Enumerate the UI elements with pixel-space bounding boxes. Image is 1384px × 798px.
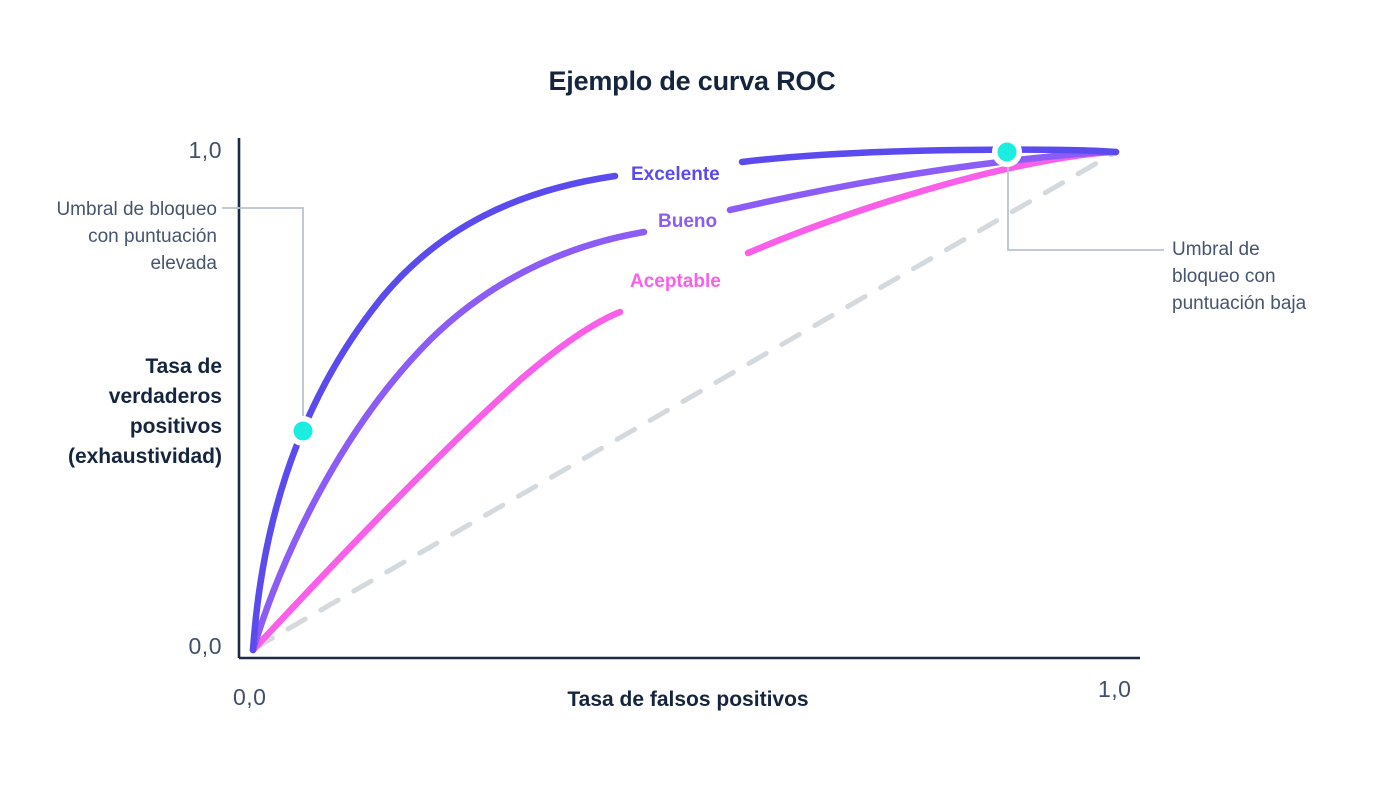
x-tick-left: 0,0 — [233, 684, 283, 711]
annotation-low-score-threshold: Umbral de bloqueo con puntuación baja — [1172, 236, 1372, 317]
marker-high-score[interactable] — [294, 422, 313, 441]
annotation-high-score-threshold: Umbral de bloqueo con puntuación elevada — [6, 196, 217, 277]
series-label-excelente: Excelente — [631, 164, 720, 186]
curve-aceptable-upper — [748, 152, 1116, 253]
series-label-bueno: Bueno — [658, 211, 717, 233]
marker-low-score[interactable] — [998, 143, 1017, 162]
leader-line-left — [222, 208, 303, 425]
roc-chart: Ejemplo de curva ROC Tasa de verdaderos … — [0, 0, 1384, 798]
curve-excelente-lower — [253, 176, 615, 650]
leader-line-right — [1008, 160, 1164, 250]
y-tick-top: 1,0 — [170, 137, 222, 164]
series-label-aceptable: Aceptable — [630, 271, 721, 293]
curve-aceptable-lower — [253, 312, 620, 650]
y-tick-bottom: 0,0 — [170, 633, 222, 660]
y-axis-title: Tasa de verdaderos positivos (exhaustivi… — [10, 352, 222, 472]
x-tick-right: 1,0 — [1098, 676, 1150, 703]
x-axis-title: Tasa de falsos positivos — [400, 688, 976, 712]
